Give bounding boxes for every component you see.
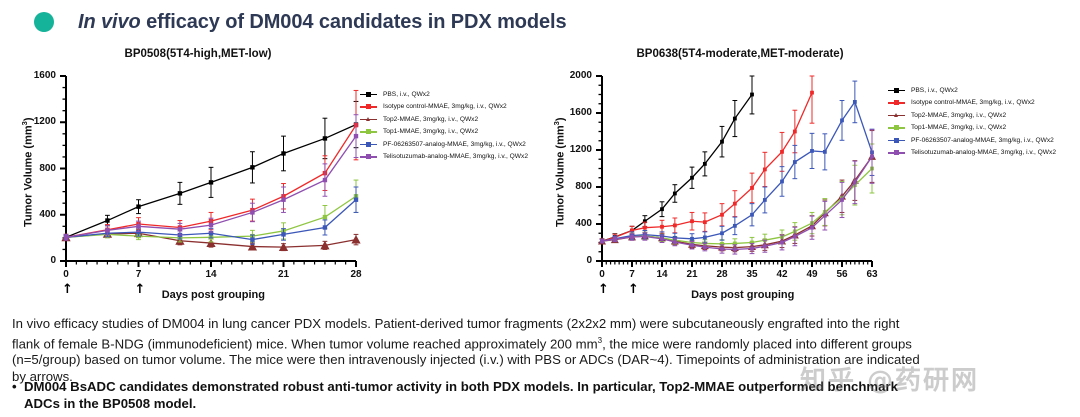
dose-arrow-icon: ↑ bbox=[62, 285, 73, 295]
bullet-line: •DM004 BsADC candidates demonstrated rob… bbox=[12, 379, 1070, 396]
x-tick-label: 21 bbox=[270, 269, 298, 280]
slide-title-row: In vivo efficacy of DM004 candidates in … bbox=[0, 4, 1080, 40]
legend-marker-icon bbox=[360, 115, 377, 124]
dose-arrow-icon: ↑ bbox=[598, 285, 609, 295]
chart-bp0508-plot: 04008001200160007142128Tumor Volume (mm3… bbox=[8, 66, 370, 311]
legend-label: Top2-MMAE, 3mg/kg, i.v., QWx2 bbox=[911, 111, 1006, 120]
legend-label: PF-06263507-analog-MMAE, 3mg/kg, i.v., Q… bbox=[383, 140, 526, 149]
legend-label: PF-06263507-analog-MMAE, 3mg/kg, i.v., Q… bbox=[911, 136, 1054, 145]
legend-marker-icon bbox=[360, 127, 377, 136]
legend-marker-icon bbox=[888, 148, 905, 157]
legend-item[interactable]: PF-06263507-analog-MMAE, 3mg/kg, i.v., Q… bbox=[888, 134, 1056, 147]
legend-item[interactable]: Top1-MMAE, 3mg/kg, i.v., QWx2 bbox=[360, 126, 528, 139]
key-findings-bullets: •DM004 BsADC candidates demonstrated rob… bbox=[12, 379, 1070, 412]
caption-line: (n=5/group) based on tumor volume. The m… bbox=[12, 352, 1070, 369]
legend-label: Telisotuzumab-analog-MMAE, 3mg/kg, i.v.,… bbox=[911, 148, 1056, 157]
legend-item[interactable]: PBS, i.v., QWx2 bbox=[360, 88, 528, 101]
x-tick-label: 49 bbox=[798, 269, 826, 280]
x-tick-label: 35 bbox=[738, 269, 766, 280]
x-tick-label: 14 bbox=[197, 269, 225, 280]
y-axis-label: Tumor Volume (mm3) bbox=[552, 117, 567, 227]
legend-label: Telisotuzumab-analog-MMAE, 3mg/kg, i.v.,… bbox=[383, 152, 528, 161]
chart-bp0508: BP0508(5T4-high,MET-low) 040080012001600… bbox=[8, 44, 538, 312]
legend-label: Top1-MMAE, 3mg/kg, i.v., QWx2 bbox=[911, 123, 1006, 132]
bullet-line: ADCs in the BP0508 model. bbox=[12, 396, 1070, 413]
legend-item[interactable]: PF-06263507-analog-MMAE, 3mg/kg, i.v., Q… bbox=[360, 138, 528, 151]
legend-label: Top2-MMAE, 3mg/kg, i.v., QWx2 bbox=[383, 115, 478, 124]
y-tick-label: 2000 bbox=[540, 70, 592, 81]
x-tick-label: 0 bbox=[52, 269, 80, 280]
caption-line: In vivo efficacy studies of DM004 in lun… bbox=[12, 316, 1070, 333]
legend-marker-icon bbox=[360, 102, 377, 111]
legend-label: PBS, i.v., QWx2 bbox=[383, 90, 430, 99]
legend-label: PBS, i.v., QWx2 bbox=[911, 86, 958, 95]
legend-label: Isotype control-MMAE, 3mg/kg, i.v., QWx2 bbox=[911, 98, 1035, 107]
chart-bp0508-title: BP0508(5T4-high,MET-low) bbox=[8, 48, 538, 60]
dose-arrow-icon: ↑ bbox=[135, 285, 146, 295]
chart-bp0638-plot: 0400800120016002000071421283542495663Tum… bbox=[540, 66, 886, 311]
chart-bp0638-title: BP0638(5T4-moderate,MET-moderate) bbox=[540, 48, 1080, 60]
page-title-rest: efficacy of DM004 candidates in PDX mode… bbox=[141, 11, 567, 33]
legend-marker-icon bbox=[360, 90, 377, 99]
legend-item[interactable]: Top2-MMAE, 3mg/kg, i.v., QWx2 bbox=[360, 113, 528, 126]
bullet-text: ADCs in the BP0508 model. bbox=[24, 396, 1070, 413]
legend-marker-icon bbox=[888, 98, 905, 107]
chart-bp0508-legend: PBS, i.v., QWx2Isotype control-MMAE, 3mg… bbox=[360, 88, 528, 163]
dose-arrow-icon: ↑ bbox=[628, 285, 639, 295]
y-tick-label: 1600 bbox=[8, 70, 56, 81]
slide-root: In vivo efficacy of DM004 candidates in … bbox=[0, 0, 1080, 417]
y-axis-label: Tumor Volume (mm3) bbox=[20, 117, 35, 227]
bullet-text: DM004 BsADC candidates demonstrated robu… bbox=[24, 379, 1070, 396]
legend-marker-icon bbox=[888, 136, 905, 145]
figure-caption: In vivo efficacy studies of DM004 in lun… bbox=[12, 316, 1070, 385]
bullet-dot-icon: • bbox=[12, 379, 24, 396]
x-tick-label: 21 bbox=[678, 269, 706, 280]
x-tick-label: 28 bbox=[708, 269, 736, 280]
x-tick-label: 0 bbox=[588, 269, 616, 280]
page-title: In vivo efficacy of DM004 candidates in … bbox=[78, 11, 567, 34]
legend-item[interactable]: Telisotuzumab-analog-MMAE, 3mg/kg, i.v.,… bbox=[888, 147, 1056, 160]
legend-label: Isotype control-MMAE, 3mg/kg, i.v., QWx2 bbox=[383, 102, 507, 111]
chart-bp0638: BP0638(5T4-moderate,MET-moderate) 040080… bbox=[540, 44, 1080, 312]
legend-marker-icon bbox=[888, 86, 905, 95]
charts-container: BP0508(5T4-high,MET-low) 040080012001600… bbox=[0, 44, 1080, 312]
legend-marker-icon bbox=[888, 123, 905, 132]
legend-marker-icon bbox=[888, 111, 905, 120]
legend-label: Top1-MMAE, 3mg/kg, i.v., QWx2 bbox=[383, 127, 478, 136]
legend-item[interactable]: Isotype control-MMAE, 3mg/kg, i.v., QWx2 bbox=[360, 101, 528, 114]
x-tick-label: 14 bbox=[648, 269, 676, 280]
legend-item[interactable]: Isotype control-MMAE, 3mg/kg, i.v., QWx2 bbox=[888, 97, 1056, 110]
y-tick-label: 0 bbox=[540, 255, 592, 266]
x-tick-label: 28 bbox=[342, 269, 370, 280]
x-tick-label: 56 bbox=[828, 269, 856, 280]
legend-item[interactable]: PBS, i.v., QWx2 bbox=[888, 84, 1056, 97]
legend-item[interactable]: Top2-MMAE, 3mg/kg, i.v., QWx2 bbox=[888, 109, 1056, 122]
page-title-italic: In vivo bbox=[78, 11, 141, 33]
x-tick-label: 42 bbox=[768, 269, 796, 280]
chart-bp0638-legend: PBS, i.v., QWx2Isotype control-MMAE, 3mg… bbox=[888, 84, 1056, 159]
legend-item[interactable]: Top1-MMAE, 3mg/kg, i.v., QWx2 bbox=[888, 122, 1056, 135]
x-axis-label: Days post grouping bbox=[162, 289, 265, 301]
y-tick-label: 0 bbox=[8, 255, 56, 266]
legend-marker-icon bbox=[360, 140, 377, 149]
title-bullet-icon bbox=[34, 12, 54, 32]
legend-marker-icon bbox=[360, 152, 377, 161]
x-tick-label: 7 bbox=[125, 269, 153, 280]
legend-item[interactable]: Telisotuzumab-analog-MMAE, 3mg/kg, i.v.,… bbox=[360, 151, 528, 164]
caption-line: flank of female B-NDG (immunodeficient) … bbox=[12, 333, 1070, 353]
bullet-dot-icon bbox=[12, 396, 24, 413]
x-axis-label: Days post grouping bbox=[691, 289, 794, 301]
x-tick-label: 7 bbox=[618, 269, 646, 280]
x-tick-label: 63 bbox=[858, 269, 886, 280]
